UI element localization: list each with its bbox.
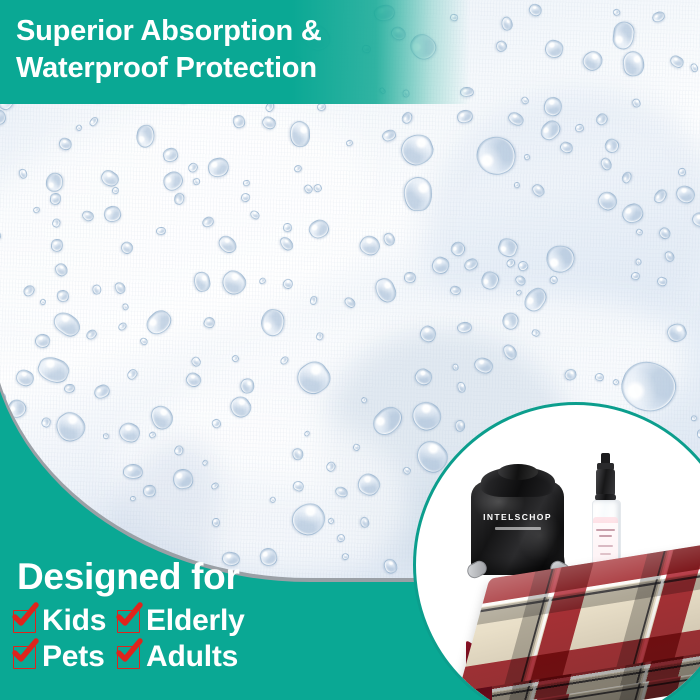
designed-for-heading: Designed for	[17, 556, 240, 598]
checkmark-icon	[11, 602, 39, 630]
checklist-label: Adults	[146, 642, 238, 672]
water-droplet	[697, 429, 700, 439]
bottle-pump-cap	[596, 469, 615, 495]
checkbox-pets	[13, 646, 36, 669]
checklist-item-kids: Kids	[13, 606, 117, 636]
checkmark-icon	[115, 638, 143, 666]
water-droplet	[92, 284, 102, 295]
water-droplet	[678, 167, 686, 176]
checklist-label: Elderly	[146, 606, 245, 636]
water-droplet	[156, 227, 166, 235]
water-droplet	[631, 271, 640, 280]
checklist-item-adults: Adults	[117, 642, 245, 672]
checkbox-adults	[117, 646, 140, 669]
water-droplet	[452, 363, 458, 370]
bottle-label-line	[600, 553, 611, 555]
checklist-label: Kids	[42, 606, 106, 636]
checkbox-elderly	[117, 610, 140, 633]
page-title: Superior Absorption & Waterproof Protect…	[0, 0, 470, 87]
water-droplet	[289, 121, 310, 147]
water-droplet	[283, 222, 293, 232]
checkmark-icon	[115, 602, 143, 630]
bag-brand-label: INTELSCHOP	[465, 512, 570, 522]
product-infographic: Superior Absorption & Waterproof Protect…	[0, 0, 700, 700]
checkbox-kids	[13, 610, 36, 633]
checkmark-icon	[11, 638, 39, 666]
bag-sub-line	[495, 527, 541, 530]
checklist-item-elderly: Elderly	[117, 606, 245, 636]
checklist-label: Pets	[42, 642, 105, 672]
bag-gather	[498, 464, 538, 480]
header-banner: Superior Absorption & Waterproof Protect…	[0, 0, 470, 104]
folded-plaid-blanket	[464, 560, 700, 700]
water-droplet	[211, 518, 219, 527]
bottle-label-line	[596, 529, 615, 531]
checklist-item-pets: Pets	[13, 642, 117, 672]
bottle-label-line	[599, 535, 612, 537]
designed-for-checklist: KidsElderlyPetsAdults	[13, 606, 245, 672]
water-droplet	[635, 258, 642, 266]
bottle-label-line	[598, 545, 613, 547]
water-droplet	[404, 272, 416, 283]
drawstring-bag: INTELSCHOP	[465, 465, 570, 575]
water-droplet	[142, 484, 156, 497]
water-droplet	[403, 176, 432, 211]
